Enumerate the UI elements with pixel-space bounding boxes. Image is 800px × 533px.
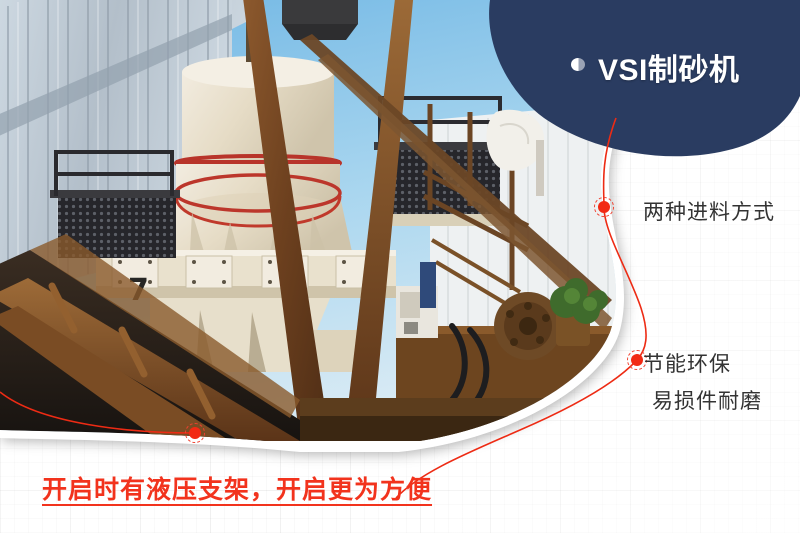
page-title: VSI制砂机 [598, 45, 739, 89]
title-bullet-icon [571, 58, 585, 71]
feature-label-feed: 两种进料方式 [643, 196, 775, 226]
marker-dot-caption [185, 423, 205, 443]
bottom-caption: 开启时有液压支架，开启更为方便 [42, 470, 432, 506]
promo-banner: 7 [0, 0, 800, 533]
feature-label-wear: 易损件耐磨 [652, 385, 762, 415]
marker-dot-feed [594, 197, 614, 217]
feature-label-eco: 节能环保 [643, 348, 731, 378]
